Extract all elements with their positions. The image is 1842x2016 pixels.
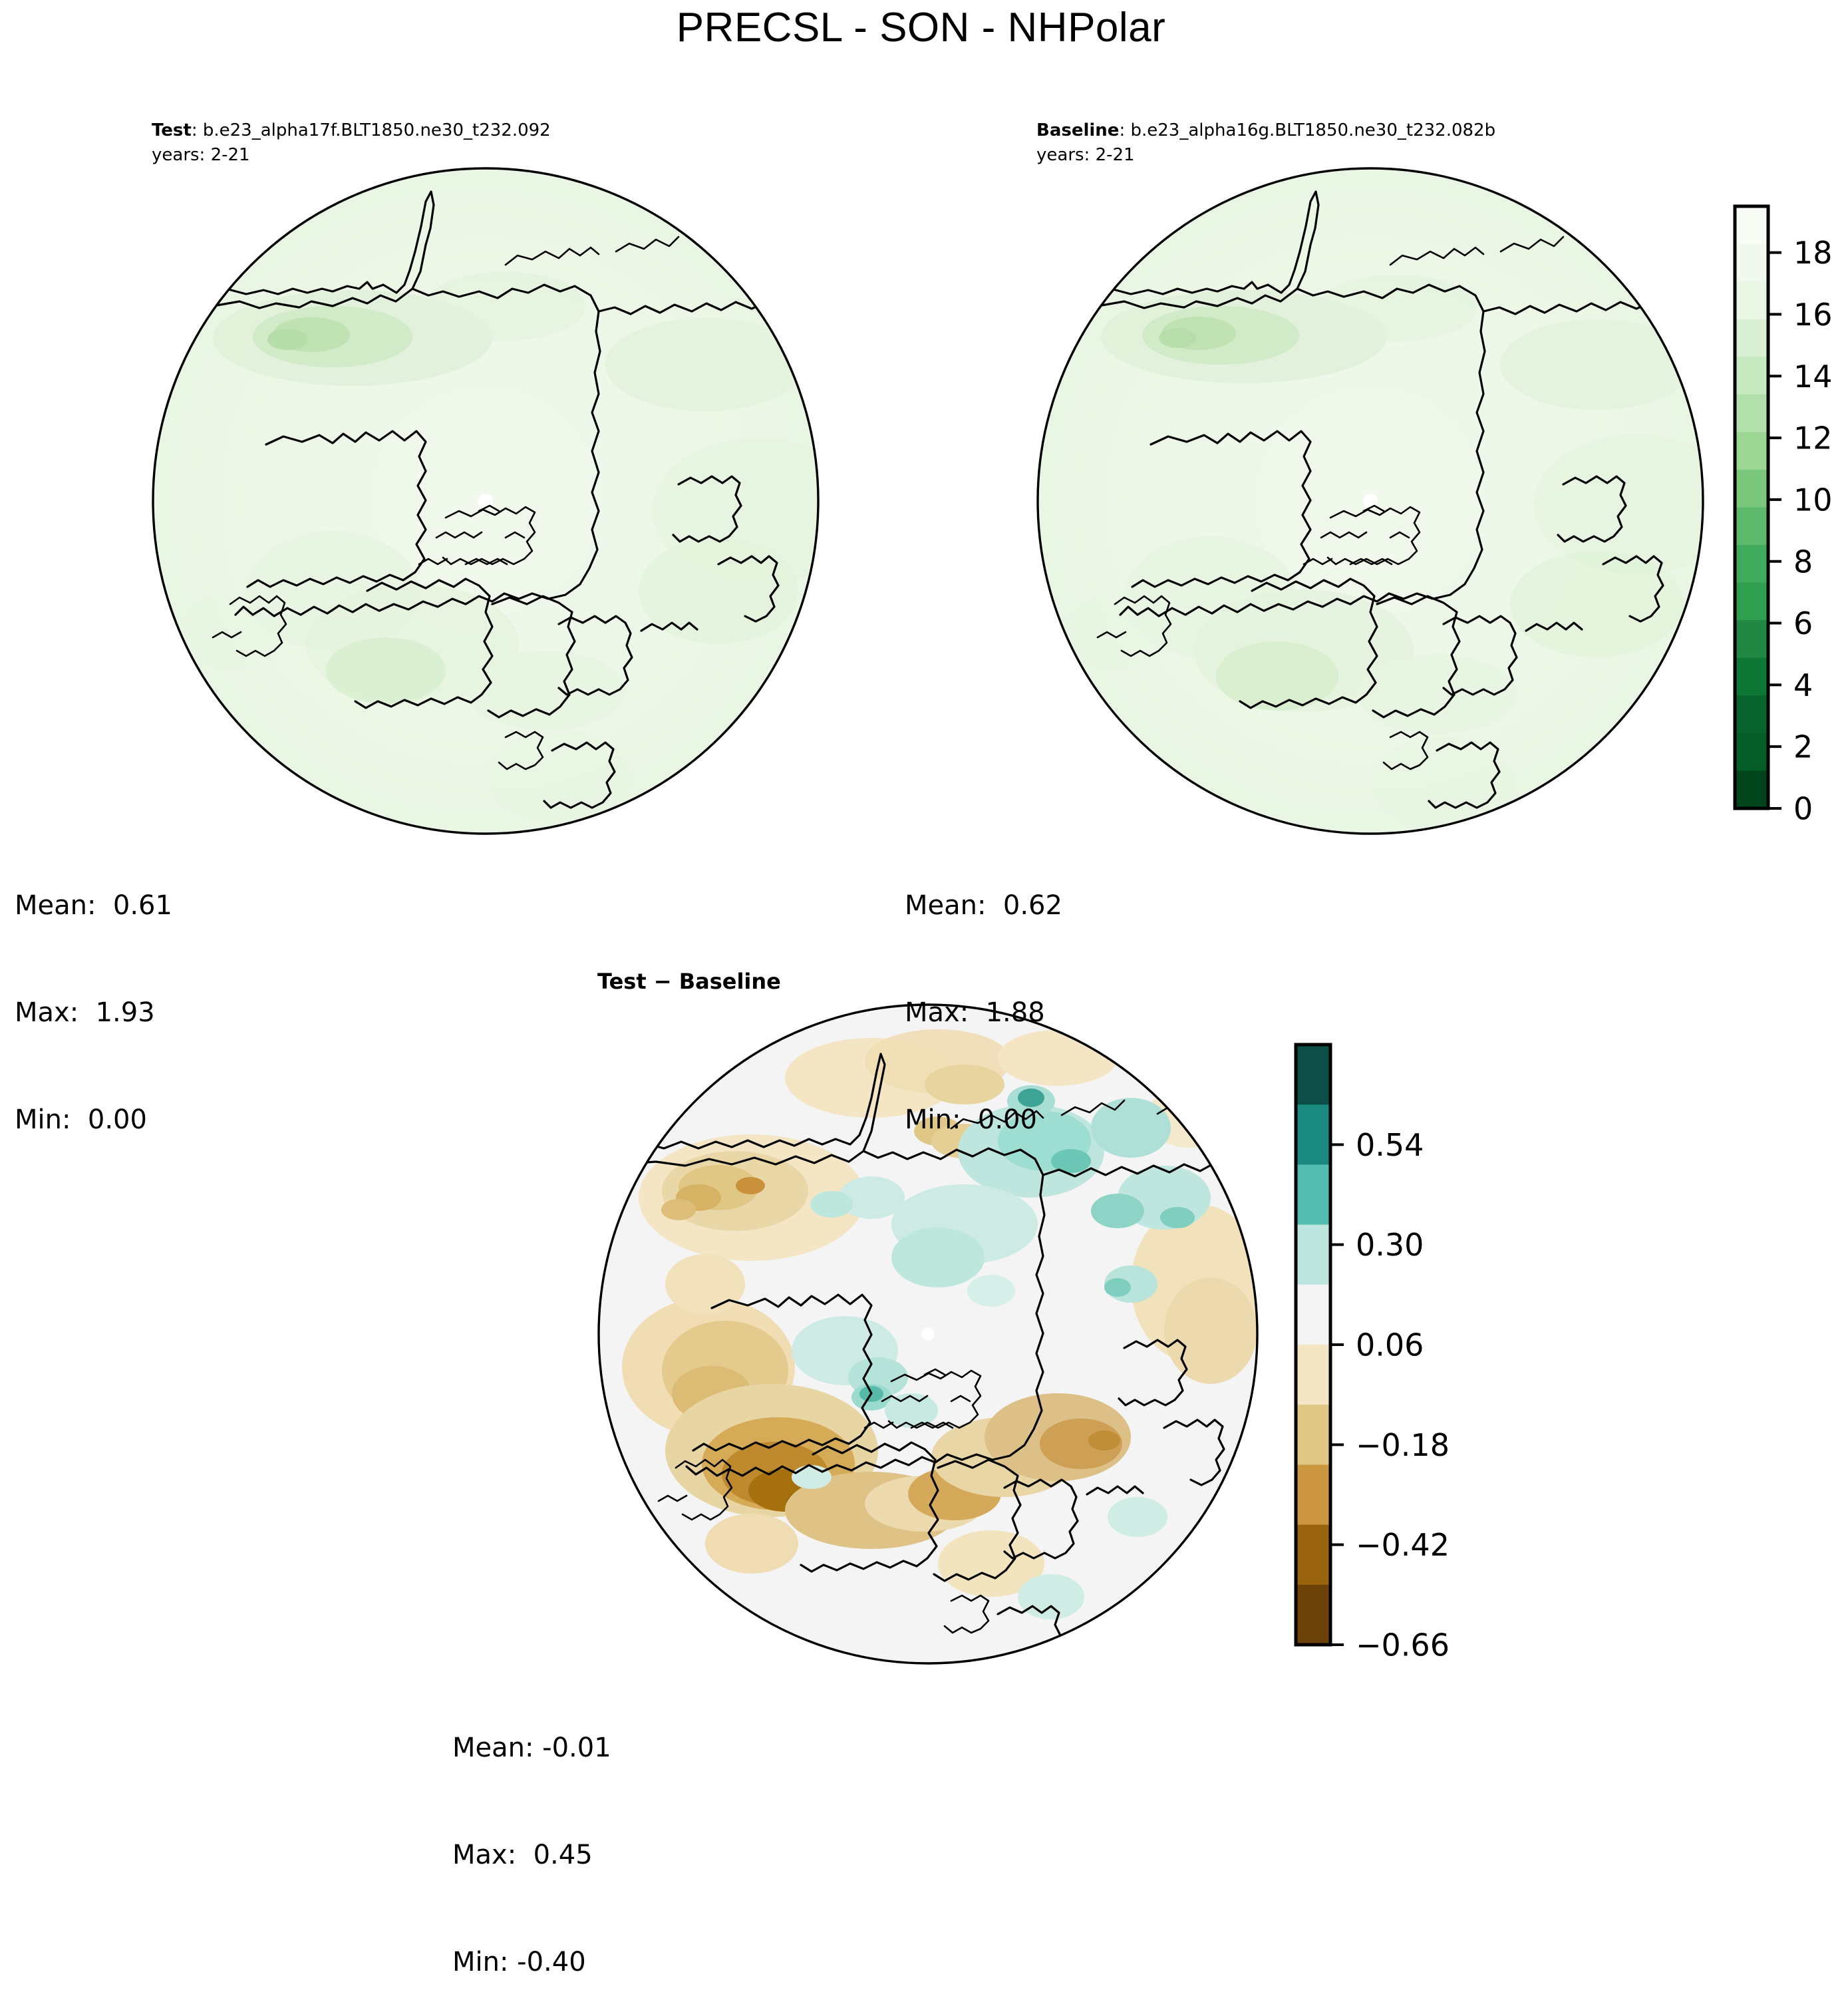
colorbar-tick-label: 16 <box>1793 297 1833 333</box>
colorbar-tick-label: −0.18 <box>1356 1427 1450 1463</box>
colorbar-band <box>1296 1345 1330 1405</box>
test-years: years: 2-21 <box>152 143 551 168</box>
colorbar-tick-label: 4 <box>1793 667 1813 703</box>
colorbar-tick-label: 14 <box>1793 359 1833 395</box>
test-separator: : <box>192 120 198 140</box>
test-stat-max: Max: 1.93 <box>15 995 172 1031</box>
colorbar-band <box>1296 1045 1330 1105</box>
colorbar-band <box>1735 545 1768 583</box>
colorbar-tick-label: 0.30 <box>1356 1227 1424 1263</box>
colorbar-tick-label: −0.42 <box>1356 1527 1450 1563</box>
colorbar-band <box>1296 1464 1330 1525</box>
colorbar-band <box>1735 432 1768 470</box>
colorbar-band <box>1735 508 1768 546</box>
colorbar-band <box>1296 1225 1330 1285</box>
difference-panel-title: Test − Baseline <box>597 969 781 994</box>
main-colorbar[interactable]: 181614121086420 <box>1716 186 1842 845</box>
colorbar-band <box>1735 620 1768 658</box>
colorbar-band <box>1735 206 1768 244</box>
colorbar-band <box>1735 770 1768 808</box>
colorbar-band <box>1296 1285 1330 1345</box>
test-panel-header: Test: b.e23_alpha17f.BLT1850.ne30_t232.0… <box>152 118 551 168</box>
difference-stat-min: Min: -0.40 <box>452 1945 611 1981</box>
difference-stat-max: Max: 0.45 <box>452 1838 611 1874</box>
colorbar-band <box>1735 281 1768 319</box>
colorbar-tick-label: 12 <box>1793 420 1833 456</box>
test-stat-mean: Mean: 0.61 <box>15 888 172 924</box>
baseline-panel-header: Baseline: b.e23_alpha16g.BLT1850.ne30_t2… <box>1036 118 1495 168</box>
colorbar-tick-label: 10 <box>1793 482 1833 518</box>
test-stat-min: Min: 0.00 <box>15 1102 172 1138</box>
colorbar-band <box>1735 583 1768 621</box>
colorbar-band <box>1296 1405 1330 1465</box>
baseline-separator: : <box>1119 120 1125 140</box>
test-map-field <box>153 168 865 834</box>
difference-colorbar-ticks: 0.540.300.06−0.18−0.42−0.66 <box>1330 1127 1450 1663</box>
baseline-role-label: Baseline <box>1036 120 1119 140</box>
colorbar-band <box>1735 244 1768 282</box>
colorbar-band <box>1296 1585 1330 1645</box>
main-colorbar-bands <box>1735 206 1768 809</box>
colorbar-band <box>1296 1104 1330 1165</box>
test-stats: Mean: 0.61 Max: 1.93 Min: 0.00 <box>15 817 172 1174</box>
colorbar-tick-label: 8 <box>1793 544 1813 580</box>
figure-title: PRECSL - SON - NHPolar <box>0 4 1842 51</box>
colorbar-band <box>1296 1164 1330 1225</box>
baseline-stat-mean: Mean: 0.62 <box>905 888 1062 924</box>
colorbar-band <box>1735 658 1768 696</box>
colorbar-tick-label: 18 <box>1793 235 1833 271</box>
difference-stat-mean: Mean: -0.01 <box>452 1731 611 1766</box>
difference-colorbar-bands <box>1296 1045 1330 1645</box>
test-map[interactable] <box>133 165 838 837</box>
baseline-case-name: b.e23_alpha16g.BLT1850.ne30_t232.082b <box>1130 120 1495 140</box>
test-case-name: b.e23_alpha17f.BLT1850.ne30_t232.092 <box>203 120 551 140</box>
colorbar-tick-label: −0.66 <box>1356 1627 1450 1663</box>
colorbar-band <box>1735 395 1768 432</box>
colorbar-tick-label: 0 <box>1793 791 1813 827</box>
colorbar-band <box>1296 1525 1330 1586</box>
colorbar-band <box>1735 695 1768 733</box>
baseline-map-field <box>1038 168 1740 834</box>
baseline-map[interactable] <box>1018 165 1723 837</box>
colorbar-band <box>1735 733 1768 771</box>
baseline-stat-min: Min: 0.00 <box>905 1102 1062 1138</box>
colorbar-tick-label: 0.54 <box>1356 1127 1424 1163</box>
baseline-stat-max: Max: 1.88 <box>905 995 1062 1031</box>
colorbar-band <box>1735 357 1768 395</box>
main-colorbar-ticks: 181614121086420 <box>1768 235 1833 826</box>
colorbar-band <box>1735 319 1768 357</box>
colorbar-tick-label: 6 <box>1793 605 1813 641</box>
colorbar-tick-label: 2 <box>1793 729 1813 765</box>
difference-colorbar[interactable]: 0.540.300.06−0.18−0.42−0.66 <box>1284 1028 1497 1667</box>
difference-stats: Mean: -0.01 Max: 0.45 Min: -0.40 <box>452 1659 611 2016</box>
baseline-stats: Mean: 0.62 Max: 1.88 Min: 0.00 <box>905 817 1062 1174</box>
test-role-label: Test <box>152 120 192 140</box>
colorbar-tick-label: 0.06 <box>1356 1327 1424 1363</box>
baseline-years: years: 2-21 <box>1036 143 1495 168</box>
colorbar-band <box>1735 470 1768 508</box>
